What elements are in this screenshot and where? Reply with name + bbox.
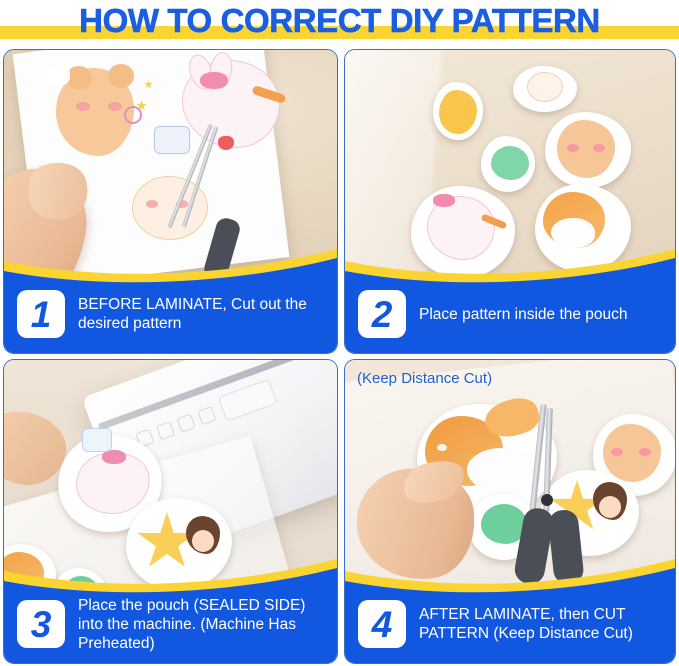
cat-cheek-left [146, 200, 158, 208]
stargirl-face [192, 530, 214, 552]
shiba4-spot [437, 444, 447, 451]
step-panel-2: 2 Place pattern inside the pouch [344, 49, 676, 354]
machine-power-button[interactable] [218, 379, 278, 422]
step-caption-text-1: BEFORE LAMINATE, Cut out the desired pat… [78, 295, 328, 333]
step-number-badge-1: 1 [17, 290, 65, 338]
bear4-cheek-right [639, 448, 651, 456]
bear-ear-right [108, 64, 134, 88]
motif-strawberry [218, 136, 234, 150]
machine-icon-5 [197, 406, 216, 425]
bear4-cheek-left [611, 448, 623, 456]
step-caption-bar-2: 2 Place pattern inside the pouch [345, 275, 675, 353]
steps-grid: 1 BEFORE LAMINATE, Cut out the desired p… [0, 46, 679, 666]
page-title: HOW TO CORRECT DIY PATTERN [0, 0, 679, 42]
bear-cheek-left [76, 102, 90, 111]
step-panel-3: 3 Place the pouch (SEALED SIDE) into the… [3, 359, 338, 664]
shiba4-belly [467, 448, 541, 494]
step-caption-bar-1: 1 BEFORE LAMINATE, Cut out the desired p… [4, 275, 337, 353]
step-panel-4: (Keep Distance Cut) [344, 359, 676, 664]
sticker-cat-2 [527, 72, 563, 102]
shiba-belly [551, 218, 595, 248]
step-number-badge-2: 2 [358, 290, 406, 338]
stargirl4-face [599, 496, 621, 518]
step-caption-bar-4: 4 AFTER LAMINATE, then CUT PATTERN (Keep… [345, 585, 675, 663]
page-header: HOW TO CORRECT DIY PATTERN [0, 0, 679, 46]
bunny-bow [200, 72, 228, 89]
step-caption-text-3: Place the pouch (SEALED SIDE) into the m… [78, 596, 328, 653]
sticker-basket [154, 126, 190, 154]
step-panel-1: 1 BEFORE LAMINATE, Cut out the desired p… [3, 49, 338, 354]
bunny3-bow [102, 450, 126, 464]
bear2-cheek-left [567, 144, 579, 152]
keep-distance-overlay-text: (Keep Distance Cut) [357, 370, 492, 387]
sticker-basket-3 [82, 428, 112, 452]
step-number-badge-4: 4 [358, 600, 406, 648]
sticker-bear-2 [557, 120, 615, 178]
bunny2-bow [433, 194, 455, 207]
step-caption-text-4: AFTER LAMINATE, then CUT PATTERN (Keep D… [419, 605, 666, 643]
machine-icon-3 [156, 421, 175, 440]
bear-cheek-right [108, 102, 122, 111]
step-caption-bar-3: 3 Place the pouch (SEALED SIDE) into the… [4, 585, 337, 663]
bear2-cheek-right [593, 144, 605, 152]
scissors-pivot-4 [541, 494, 553, 506]
machine-icon-4 [177, 414, 196, 433]
bear-chef-hat [44, 66, 70, 86]
sticker-frog [491, 146, 529, 180]
motif-lollipop [124, 106, 142, 124]
step-caption-text-2: Place pattern inside the pouch [419, 305, 628, 324]
step-number-badge-3: 3 [17, 600, 65, 648]
